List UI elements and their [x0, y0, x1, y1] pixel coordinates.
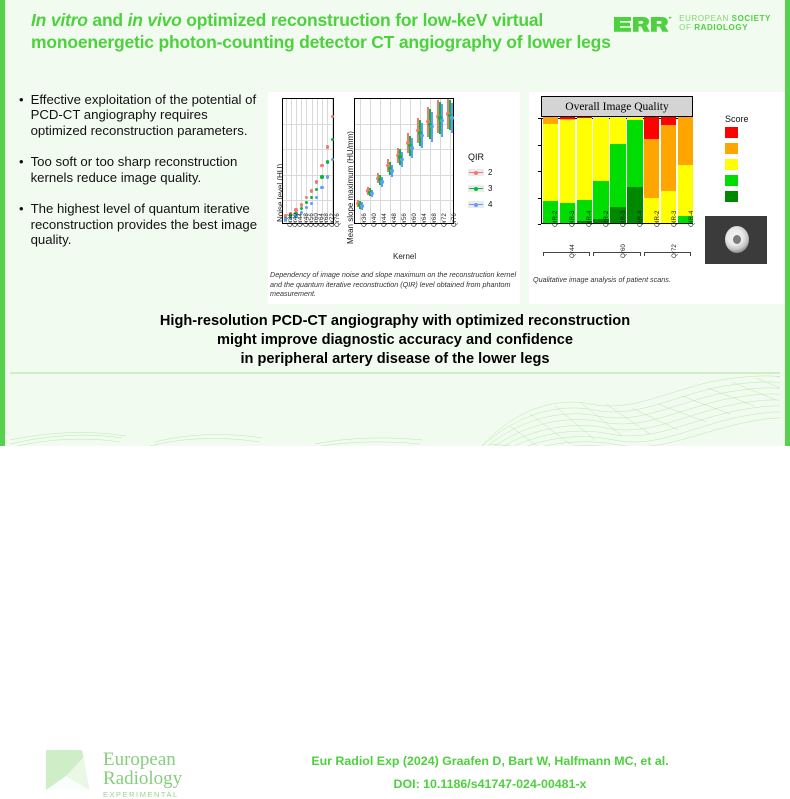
plot-area [541, 118, 693, 224]
bar-segment [661, 117, 676, 125]
mesh-decoration [10, 374, 780, 446]
vessel-core [733, 235, 741, 244]
esr-line2-bold: RADIOLOGY [694, 23, 748, 32]
legend-item[interactable]: 1 [725, 128, 733, 137]
data-point [305, 201, 308, 204]
bar-segment [661, 125, 676, 191]
data-point [310, 196, 313, 199]
axis-tick-label-x: QIR-4 [688, 210, 695, 227]
data-point [310, 189, 313, 192]
axis-tick-y [538, 171, 541, 172]
gridline-vertical [296, 99, 297, 223]
bar-segment [560, 119, 575, 120]
bar-segment [577, 118, 592, 200]
legend-swatch [468, 185, 484, 192]
esr-logo-text: EUROPEAN SOCIETY OF RADIOLOGY [679, 14, 771, 32]
plot-area [354, 98, 454, 224]
data-point [370, 192, 373, 195]
data-point [320, 164, 323, 167]
gridline-vertical [317, 99, 318, 223]
phantom-measurement-figure: Noise level (HU)Qr36Qr40Qr44Qr48Qr56Qr60… [268, 92, 520, 304]
list-item-text: Too soft or too sharp reconstruction ker… [31, 154, 259, 185]
legend-swatch [725, 143, 738, 154]
esr-line1-bold: SOCIETY [732, 14, 771, 23]
data-point [326, 175, 329, 178]
legend-title: Score [725, 114, 749, 124]
data-point [305, 206, 308, 209]
esr-logo: EUROPEAN SOCIETY OF RADIOLOGY [614, 14, 771, 32]
data-point [420, 134, 423, 137]
journal-mark-icon [46, 750, 94, 792]
scatter-plots-container: Noise level (HU)Qr36Qr40Qr44Qr48Qr56Qr60… [268, 92, 520, 267]
stacked-bar[interactable] [678, 117, 693, 223]
stacked-bar[interactable] [661, 117, 676, 223]
legend-swatch [725, 159, 738, 170]
stacked-bar[interactable] [627, 117, 642, 223]
legend-swatch [725, 175, 738, 186]
data-point [315, 196, 318, 199]
data-point [440, 119, 443, 122]
list-item: • Effective exploitation of the potentia… [19, 92, 259, 138]
journal-line-3: EXPERIMENTAL [103, 790, 182, 799]
legend-item[interactable]: 3 [468, 184, 492, 193]
data-point [305, 196, 308, 199]
legend-label: 2 [488, 168, 492, 177]
bar-segment [644, 117, 659, 139]
legend-item[interactable]: 3 [725, 160, 733, 169]
bar-segment [678, 165, 693, 216]
conclusion-line-1: High-resolution PCD-CT angiography with … [5, 312, 785, 331]
title-part-1: and [88, 10, 128, 30]
footer: European Radiology EXPERIMENTAL Eur Radi… [10, 372, 780, 446]
stacked-bar[interactable] [543, 117, 558, 223]
bar-segment [610, 144, 625, 208]
mesh-graphic-icon [10, 374, 780, 446]
conclusion-block: High-resolution PCD-CT angiography with … [5, 312, 785, 369]
title-part-2: in vivo [128, 10, 182, 30]
bar-segment [560, 117, 575, 119]
axis-tick-label-x: QIR-2 [654, 210, 661, 227]
axis-tick-label-x: QIR-4 [637, 210, 644, 227]
stacked-bar[interactable] [610, 117, 625, 223]
ct-cross-section-image [705, 216, 767, 264]
journal-name: European Radiology EXPERIMENTAL [103, 750, 182, 799]
legend-item[interactable]: 5 [725, 192, 733, 201]
gridline-vertical [380, 99, 381, 223]
axis-tick-label-x: QIR-2 [552, 210, 559, 227]
poster-canvas: In vitro and in vivo optimized reconstru… [0, 0, 790, 446]
axis-tick-label-x: Qr60 [411, 213, 418, 227]
bar-segment [593, 117, 608, 181]
data-point [315, 188, 318, 191]
legend-swatch [725, 127, 738, 138]
bar-segment [543, 117, 558, 124]
axis-tick-y [538, 224, 541, 225]
axis-tick-label-x: Qr40 [371, 213, 378, 227]
conclusion-line-3: in peripheral artery disease of the lowe… [5, 350, 785, 369]
legend-label: 3 [488, 184, 492, 193]
gridline-vertical [390, 99, 391, 223]
gridline-vertical [306, 99, 307, 223]
axis-tick-label-x: Qr48 [391, 213, 398, 227]
data-point [360, 204, 363, 207]
data-point [331, 115, 334, 118]
data-point [320, 175, 323, 178]
data-point [390, 169, 393, 172]
axis-tick-label-x: Qr56 [401, 213, 408, 227]
plot-area [282, 98, 334, 224]
key-points-list: • Effective exploitation of the potentia… [19, 92, 259, 264]
european-radiology-experimental-logo: European Radiology EXPERIMENTAL [46, 750, 182, 799]
legend-title: QIR [468, 152, 484, 162]
group-label: Qr44 [569, 244, 576, 258]
citation-doi[interactable]: DOI: 10.1186/s41747-024-00481-x [240, 777, 740, 791]
gridline-horizontal [355, 200, 453, 201]
legend-item[interactable]: 2 [468, 168, 492, 177]
legend-label: 4 [488, 200, 492, 209]
data-point [380, 180, 383, 183]
group-label: Qr72 [671, 244, 678, 258]
legend-item[interactable]: 4 [468, 200, 492, 209]
legend-swatch [468, 169, 484, 176]
chart-title: Overall Image Quality [541, 96, 693, 117]
header: In vitro and in vivo optimized reconstru… [5, 0, 785, 88]
bar-segment [560, 120, 575, 203]
axis-tick-label-x: Qr76 [451, 213, 458, 227]
data-point [326, 160, 329, 163]
axis-tick-label-x: Qr76 [334, 213, 341, 227]
bar-segment [610, 117, 625, 144]
axis-tick-label-x: Qr72 [441, 213, 448, 227]
axis-tick-label-x: QIR-3 [569, 210, 576, 227]
bar-segment [678, 117, 693, 165]
gridline-horizontal [283, 200, 333, 201]
data-point [331, 158, 334, 161]
patient-analysis-figure: Overall Image QualityQIR-2QIR-3QIR-4QIR-… [529, 92, 785, 304]
data-point [430, 125, 433, 128]
gridline-vertical [410, 99, 411, 223]
axis-tick-label-x: QIR-3 [620, 210, 627, 227]
bar-segment [627, 117, 642, 120]
legend-item[interactable]: 4 [725, 176, 733, 185]
citation-block: Eur Radiol Exp (2024) Graafen D, Bart W,… [240, 754, 740, 791]
esr-wordmark-icon [614, 15, 672, 32]
axis-tick-label-x: Qr68 [431, 213, 438, 227]
legend-swatch [725, 191, 738, 202]
axis-tick-y [538, 118, 541, 119]
bullet-marker-icon: • [19, 201, 24, 247]
data-point [400, 158, 403, 161]
group-label: Qr60 [620, 244, 627, 258]
axis-tick-label-x: QIR-2 [603, 210, 610, 227]
axis-tick-label-x: QIR-3 [671, 210, 678, 227]
group-brace [543, 252, 591, 256]
axis-tick-label-x: Qr44 [381, 213, 388, 227]
bar-segment [644, 139, 659, 197]
gridline-horizontal [283, 124, 333, 125]
legend-marker [474, 171, 478, 175]
conclusion-line-2: might improve diagnostic accuracy and co… [5, 331, 785, 350]
data-point [331, 138, 334, 141]
legend-swatch [468, 201, 484, 208]
citation-reference: Eur Radiol Exp (2024) Graafen D, Bart W,… [240, 754, 740, 768]
stacked-bar[interactable] [560, 117, 575, 223]
gridline-vertical [286, 99, 287, 223]
data-point [326, 145, 329, 148]
legend-marker [474, 187, 478, 191]
gridline-vertical [370, 99, 371, 223]
gridline-horizontal [355, 149, 453, 150]
data-point [315, 180, 318, 183]
gridline-vertical [291, 99, 292, 223]
page-title: In vitro and in vivo optimized reconstru… [31, 9, 621, 53]
figure-caption-left: Dependency of image noise and slope maxi… [270, 270, 518, 299]
list-item: • Too soft or too sharp reconstruction k… [19, 154, 259, 185]
axis-tick-label-x: Qr64 [421, 213, 428, 227]
list-item-text: Effective exploitation of the potential … [31, 92, 259, 138]
title-part-0: In vitro [31, 10, 88, 30]
stacked-bar[interactable] [593, 117, 608, 223]
group-brace [644, 252, 692, 256]
axis-tick-y [538, 198, 541, 199]
list-item-text: The highest level of quantum iterative r… [31, 201, 259, 247]
data-point [410, 146, 413, 149]
bullet-marker-icon: • [19, 154, 24, 185]
bar-segment [577, 117, 592, 118]
esr-line1-light: EUROPEAN [679, 14, 732, 23]
gridline-horizontal [283, 149, 333, 150]
data-point [300, 207, 303, 210]
list-item: • The highest level of quantum iterative… [19, 201, 259, 247]
axis-tick-y [538, 145, 541, 146]
journal-line-1: European [103, 750, 182, 769]
bullet-marker-icon: • [19, 92, 24, 138]
figure-caption-right: Qualitative image analysis of patient sc… [533, 275, 733, 285]
data-point [450, 116, 453, 119]
axis-label-x: Kernel [393, 252, 416, 261]
esr-line2-light: OF [679, 23, 694, 32]
gridline-vertical [322, 99, 323, 223]
gridline-vertical [420, 99, 421, 223]
legend-marker [474, 203, 478, 207]
data-point [310, 202, 313, 205]
group-brace [593, 252, 641, 256]
axis-tick-label-x: Qr36 [361, 213, 368, 227]
journal-line-2: Radiology [103, 769, 182, 789]
stacked-bar[interactable] [577, 117, 592, 223]
gridline-horizontal [355, 175, 453, 176]
stacked-bar[interactable] [644, 117, 659, 223]
data-point [320, 186, 323, 189]
axis-tick-label-x: QIR-4 [586, 210, 593, 227]
bar-segment [543, 124, 558, 200]
bar-segment [627, 120, 642, 187]
legend-item[interactable]: 2 [725, 144, 733, 153]
